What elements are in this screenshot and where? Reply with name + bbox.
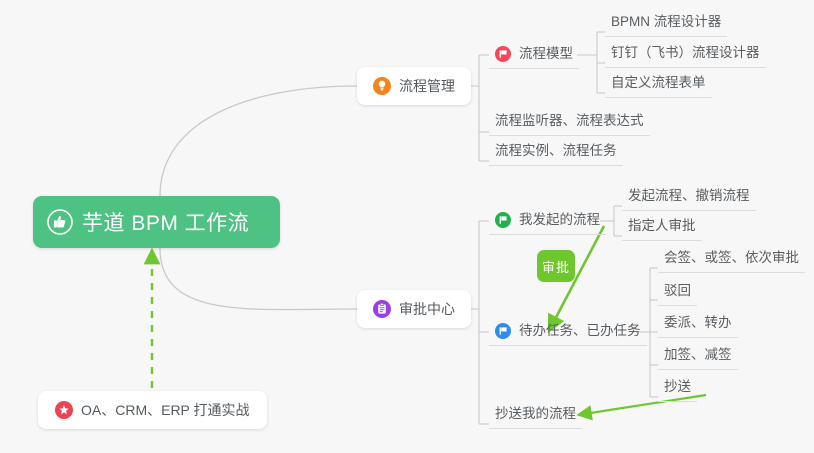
approval-badge-label: 审批: [542, 257, 570, 276]
leaf-custom-process-form[interactable]: 自定义流程表单: [605, 69, 712, 98]
leaf-label: 抄送: [664, 380, 691, 394]
leaf-start-cancel-process[interactable]: 发起流程、撤销流程: [622, 182, 756, 211]
node-label-process-model: 流程模型: [519, 47, 573, 61]
mindmap-canvas: 芋道 BPM 工作流 流程管理 流程模型 BPMN 流程设计器 钉钉（飞书）流程: [0, 0, 814, 453]
thumbs-up-icon: [47, 209, 73, 235]
root-label: 芋道 BPM 工作流: [82, 207, 249, 237]
branch-node-process-management[interactable]: 流程管理: [357, 67, 471, 105]
branch-label-process-management: 流程管理: [399, 76, 455, 96]
leaf-label: 指定人审批: [628, 219, 696, 233]
node-label-todo-done-task: 待办任务、已办任务: [519, 324, 641, 338]
practice-callout[interactable]: OA、CRM、ERP 打通实战: [38, 391, 267, 429]
leaf-add-remove-sign[interactable]: 加签、减签: [658, 341, 738, 370]
node-label: 抄送我的流程: [495, 407, 576, 421]
leaf-label: 发起流程、撤销流程: [628, 189, 750, 203]
leaf-cc[interactable]: 抄送: [658, 373, 697, 402]
approval-badge: 审批: [537, 250, 575, 282]
node-my-started-process[interactable]: 我发起的流程: [489, 206, 606, 235]
node-cc-my-process[interactable]: 抄送我的流程: [489, 400, 582, 429]
lightbulb-icon: [373, 77, 391, 95]
leaf-label: 自定义流程表单: [611, 76, 706, 90]
leaf-label: BPMN 流程设计器: [611, 15, 721, 29]
node-process-model[interactable]: 流程模型: [489, 40, 579, 69]
leaf-label: 加签、减签: [664, 348, 732, 362]
branch-label-approval-center: 审批中心: [399, 299, 455, 319]
branch-node-approval-center[interactable]: 审批中心: [357, 290, 471, 328]
node-label: 流程实例、流程任务: [495, 144, 617, 158]
star-icon: [55, 401, 73, 419]
clipboard-icon: [373, 300, 391, 318]
leaf-label: 钉钉（飞书）流程设计器: [611, 46, 760, 60]
node-instance-task[interactable]: 流程实例、流程任务: [489, 137, 623, 166]
flag-icon: [495, 323, 511, 339]
leaf-countersign[interactable]: 会签、或签、依次审批: [658, 244, 805, 273]
leaf-reject[interactable]: 驳回: [658, 277, 697, 306]
connector-root-to-approval-center: [160, 248, 357, 310]
node-label-my-started-process: 我发起的流程: [519, 213, 600, 227]
node-todo-done-task[interactable]: 待办任务、已办任务: [489, 317, 647, 346]
leaf-dingtalk-feishu-designer[interactable]: 钉钉（飞书）流程设计器: [605, 39, 766, 68]
leaf-assignee-approval[interactable]: 指定人审批: [622, 212, 702, 241]
leaf-delegate-transfer[interactable]: 委派、转办: [658, 309, 738, 338]
leaf-label: 驳回: [664, 284, 691, 298]
flag-icon: [495, 46, 511, 62]
leaf-bpmn-designer[interactable]: BPMN 流程设计器: [605, 8, 727, 37]
connector-root-to-process-management: [160, 86, 357, 196]
node-label: 流程监听器、流程表达式: [495, 114, 644, 128]
practice-callout-label: OA、CRM、ERP 打通实战: [81, 400, 250, 420]
flag-icon: [495, 212, 511, 228]
node-listener-expression[interactable]: 流程监听器、流程表达式: [489, 107, 650, 136]
leaf-label: 会签、或签、依次审批: [664, 251, 799, 265]
leaf-label: 委派、转办: [664, 316, 732, 330]
root-node[interactable]: 芋道 BPM 工作流: [33, 196, 280, 248]
